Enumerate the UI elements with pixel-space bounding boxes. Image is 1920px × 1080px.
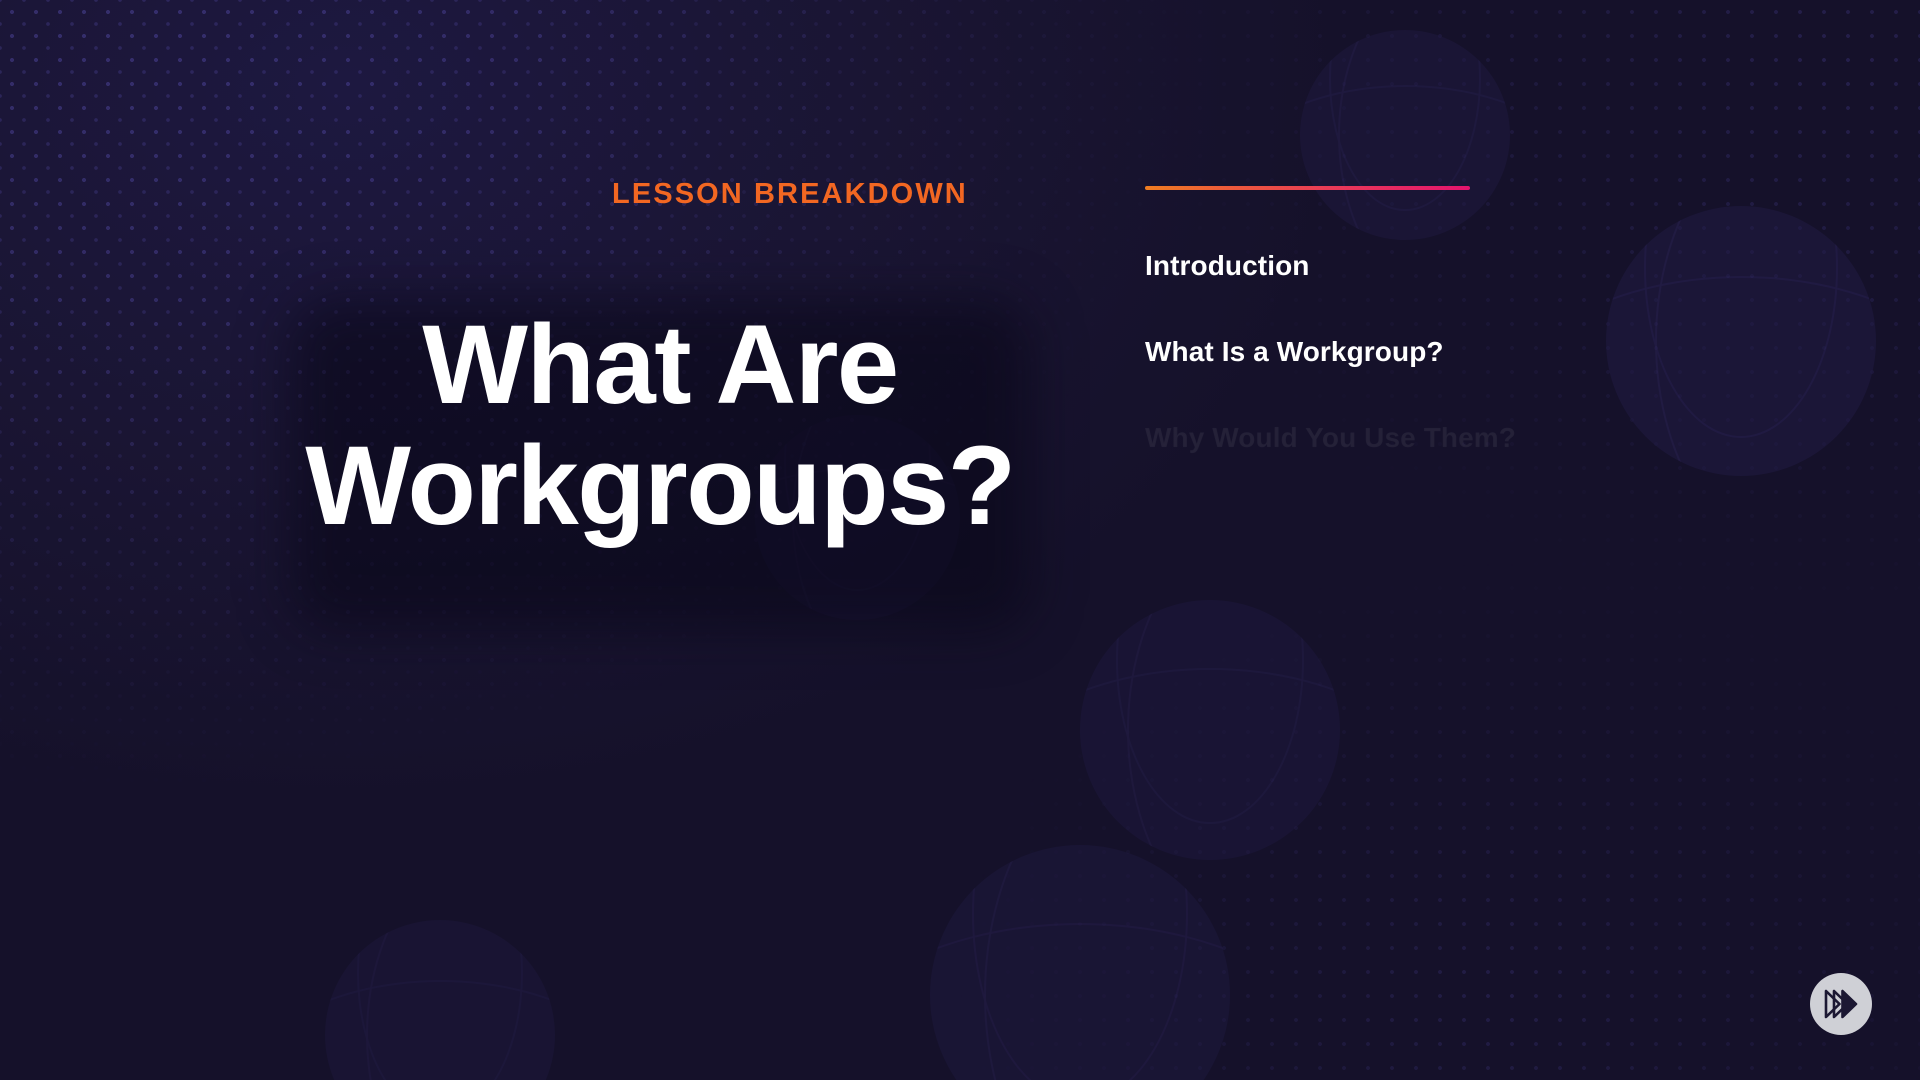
gradient-divider [1145, 186, 1470, 190]
agenda-panel: Introduction What Is a Workgroup? Why Wo… [1145, 186, 1745, 508]
list-item: Introduction [1145, 250, 1745, 282]
title-line-1: What Are [422, 302, 897, 427]
agenda-list: Introduction What Is a Workgroup? Why Wo… [1145, 250, 1745, 454]
decorative-sphere-icon [930, 845, 1230, 1080]
presentation-slide: LESSON BREAKDOWN What Are Workgroups? In… [0, 0, 1920, 1080]
slide-kicker: LESSON BREAKDOWN [612, 178, 968, 211]
decorative-sphere-icon [1080, 600, 1340, 860]
list-item: Why Would You Use Them? [1145, 422, 1745, 454]
decorative-sphere-icon [325, 920, 555, 1080]
list-item: What Is a Workgroup? [1145, 336, 1745, 368]
title-line-2: Workgroups? [280, 426, 1040, 547]
slide-title-block: What Are Workgroups? [280, 305, 1040, 547]
page-title: What Are Workgroups? [280, 305, 1040, 547]
brand-badge[interactable] [1810, 973, 1872, 1035]
pluralsight-play-logo-icon [1824, 989, 1858, 1019]
